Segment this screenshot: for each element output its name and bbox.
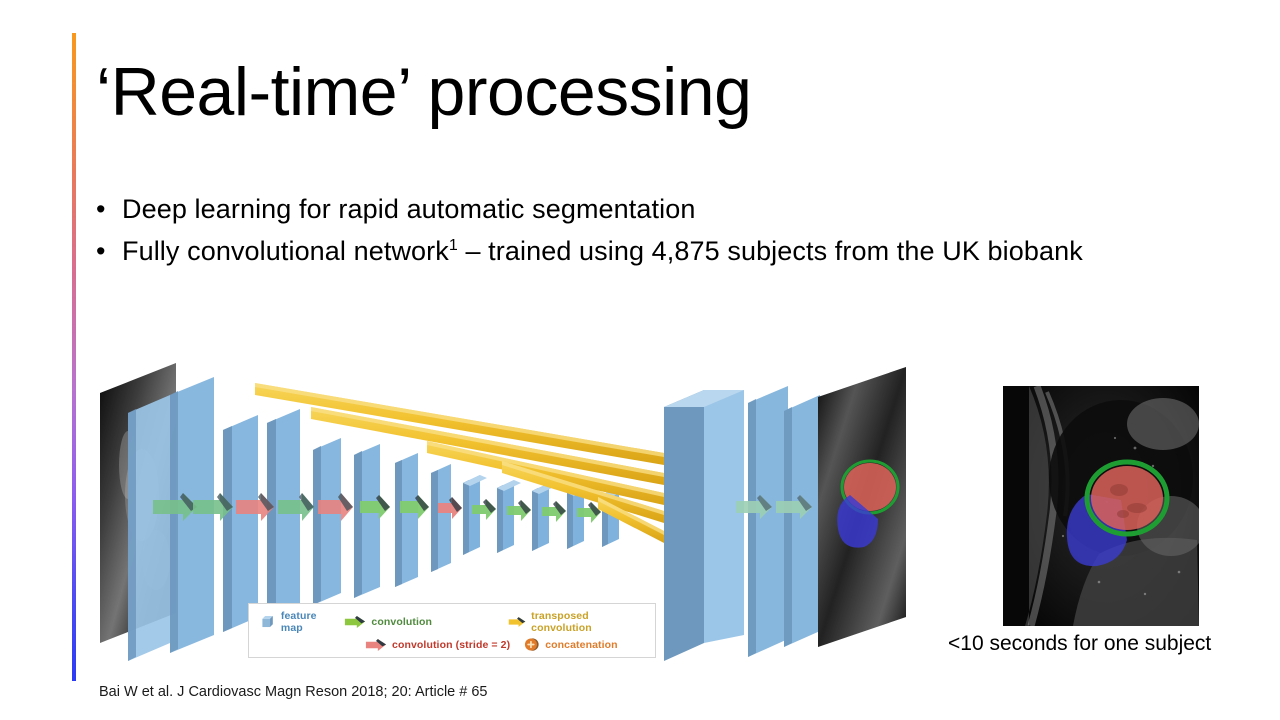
legend-item-transposed-convolution: transposed convolution	[508, 610, 631, 634]
legend-item-convolution-stride2: convolution (stride = 2)	[365, 638, 510, 652]
green-arrow-icon	[344, 615, 366, 629]
feature-map-slab	[354, 444, 380, 598]
list-item: • Fully convolutional network1 – trained…	[96, 234, 1236, 270]
feature-map-cube	[532, 483, 556, 551]
legend-row: feature map convolution transposed convo…	[261, 610, 645, 633]
bullet-marker: •	[96, 234, 122, 270]
feature-map-slab	[664, 390, 744, 661]
legend-label-convolution-stride2: convolution (stride = 2)	[392, 639, 510, 651]
gradient-accent-bar	[72, 33, 76, 681]
feature-map-slab	[748, 386, 788, 657]
bullet-list: • Deep learning for rapid automatic segm…	[96, 192, 1236, 275]
feature-map-slab	[128, 395, 170, 661]
footnote-reference: 1	[449, 237, 458, 254]
legend-item-convolution: convolution	[344, 615, 432, 629]
legend-row: convolution (stride = 2) concatenation	[261, 633, 645, 656]
bullet-text: Fully convolutional network1 – trained u…	[122, 234, 1083, 270]
legend-label-transposed-convolution: transposed convolution	[531, 610, 631, 634]
page-title: ‘Real-time’ processing	[96, 56, 1096, 129]
yellow-arrow-icon	[508, 615, 526, 629]
bullet-text-main: Deep learning for rapid automatic segmen…	[122, 194, 695, 224]
feature-map-slab	[170, 377, 214, 653]
feature-map-slab	[784, 395, 820, 647]
legend-item-concatenation: concatenation	[524, 637, 617, 652]
feature-map-cube	[463, 475, 487, 555]
segmentation-result-image	[1003, 386, 1199, 626]
result-caption: <10 seconds for one subject	[948, 632, 1211, 656]
segmentation-result-panel	[1003, 386, 1199, 631]
fcn-architecture-figure: feature map convolution transposed convo…	[98, 345, 908, 665]
feature-map-slab	[395, 453, 418, 587]
feature-map-slab	[223, 415, 258, 632]
list-item: • Deep learning for rapid automatic segm…	[96, 192, 1236, 228]
legend-label-convolution: convolution	[371, 616, 432, 628]
feature-map-cube	[497, 480, 521, 553]
bullet-text: Deep learning for rapid automatic segmen…	[122, 192, 695, 228]
red-arrow-icon	[365, 638, 387, 652]
citation-text: Bai W et al. J Cardiovasc Magn Reson 201…	[99, 684, 487, 700]
diagram-legend: feature map convolution transposed convo…	[248, 603, 656, 658]
orange-plus-icon	[524, 637, 539, 652]
bullet-text-main: Fully convolutional network	[122, 236, 449, 266]
feature-map-slab	[267, 409, 300, 627]
feature-map-cube-icon	[261, 613, 275, 630]
output-segmented-slice	[818, 367, 906, 647]
feature-map-slab	[431, 464, 451, 572]
bullet-text-tail: – trained using 4,875 subjects from the …	[458, 236, 1083, 266]
bullet-marker: •	[96, 192, 122, 228]
legend-label-feature-map: feature map	[281, 610, 331, 634]
legend-item-feature-map: feature map	[261, 610, 330, 634]
feature-map-slab	[313, 438, 341, 605]
legend-label-concatenation: concatenation	[545, 639, 617, 651]
